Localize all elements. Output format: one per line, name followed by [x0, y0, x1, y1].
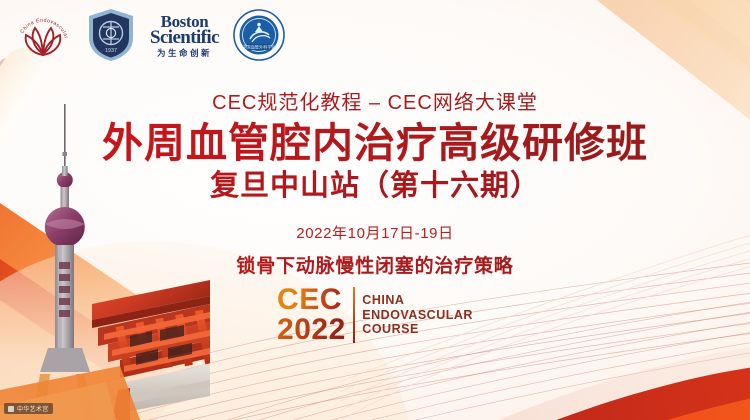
poster-subtitle: 复旦中山站（第十六期） [0, 169, 750, 204]
poster-topic: 锁骨下动脉慢性闭塞的治疗策略 [0, 251, 750, 278]
decorative-band [455, 0, 656, 38]
fudan-zhongshan-logo[interactable]: 1937 [86, 7, 136, 63]
svg-text:1937: 1937 [105, 48, 117, 54]
conference-poster: China Endovascular Course 1937 Boston Sc… [0, 0, 750, 420]
cec-logo[interactable]: China Endovascular Course [14, 6, 72, 64]
society-logo[interactable]: 中国血管外科学会 [233, 9, 285, 61]
poster-title: 外周血管腔内治疗高级研修班 [0, 121, 750, 167]
poster-kicker: CEC规范化教程 – CEC网络大课堂 [0, 86, 750, 115]
svg-text:中国血管外科学会: 中国血管外科学会 [242, 44, 276, 51]
lockup-line3: COURSE [362, 322, 473, 337]
poster-text-block: CEC规范化教程 – CEC网络大课堂 外周血管腔内治疗高级研修班 复旦中山站（… [0, 86, 750, 278]
society-emblem-icon: 中国血管外科学会 [233, 9, 285, 61]
lockup-cec: CEC [277, 286, 342, 315]
cec-2022-lockup: CEC 2022 CHINA ENDOVASCULAR COURSE [0, 286, 750, 344]
watermark-icon [8, 406, 14, 412]
poster-date: 2022年10月17日-19日 [0, 222, 750, 243]
shield-icon: 1937 [86, 7, 136, 63]
image-watermark: 中华艺术宫 [4, 403, 53, 414]
bsx-chinese-tagline: 为生命创新 [157, 49, 212, 58]
lockup-line2: ENDOVASCULAR [362, 308, 473, 323]
lockup-line1: CHINA [362, 293, 473, 308]
cec-lotus-icon: China Endovascular Course [14, 6, 72, 64]
watermark-text: 中华艺术宫 [17, 404, 49, 413]
sponsor-logo-row: China Endovascular Course 1937 Boston Sc… [14, 6, 285, 64]
boston-scientific-logo[interactable]: Boston Scientific 为生命创新 [150, 13, 219, 58]
lockup-year: 2022 [277, 316, 346, 345]
bsx-line2: Scientific [150, 28, 219, 47]
